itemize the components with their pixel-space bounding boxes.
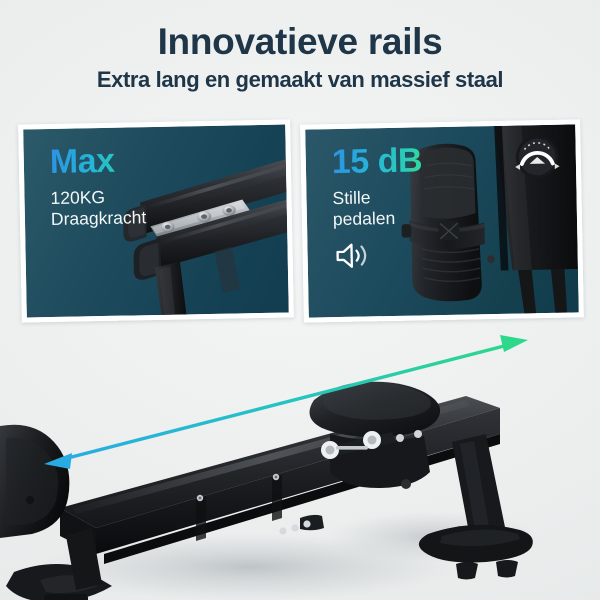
feature-panel-noise-level: 15 dB Stille pedalen bbox=[300, 119, 584, 322]
feature-panels: Max 120KG Draagkracht bbox=[20, 122, 582, 322]
page-subtitle: Extra lang en gemaakt van massief staal bbox=[0, 67, 600, 93]
speaker-volume-icon bbox=[333, 241, 368, 270]
product-feature-image: Innovatieve rails Extra lang en gemaakt … bbox=[0, 0, 600, 600]
stat-description-load: 120KG Draagkracht bbox=[50, 186, 146, 231]
panel-text-load-capacity: Max 120KG Draagkracht bbox=[50, 143, 147, 231]
stat-description-noise: Stille pedalen bbox=[332, 186, 423, 230]
header: Innovatieve rails Extra lang en gemaakt … bbox=[0, 0, 600, 93]
stat-value-noise: 15 dB bbox=[332, 143, 423, 179]
page-title: Innovatieve rails bbox=[0, 22, 600, 62]
hero-product-section: Max 195 cm personen bbox=[0, 322, 600, 600]
feature-panel-load-capacity: Max 120KG Draagkracht bbox=[18, 119, 294, 322]
panel-background: 15 dB Stille pedalen bbox=[305, 124, 579, 317]
stat-value-load: Max bbox=[50, 143, 146, 179]
double-headed-measurement-arrow bbox=[0, 322, 600, 600]
panel-background: Max 120KG Draagkracht bbox=[23, 125, 289, 318]
panel-text-noise-level: 15 dB Stille pedalen bbox=[332, 143, 424, 269]
